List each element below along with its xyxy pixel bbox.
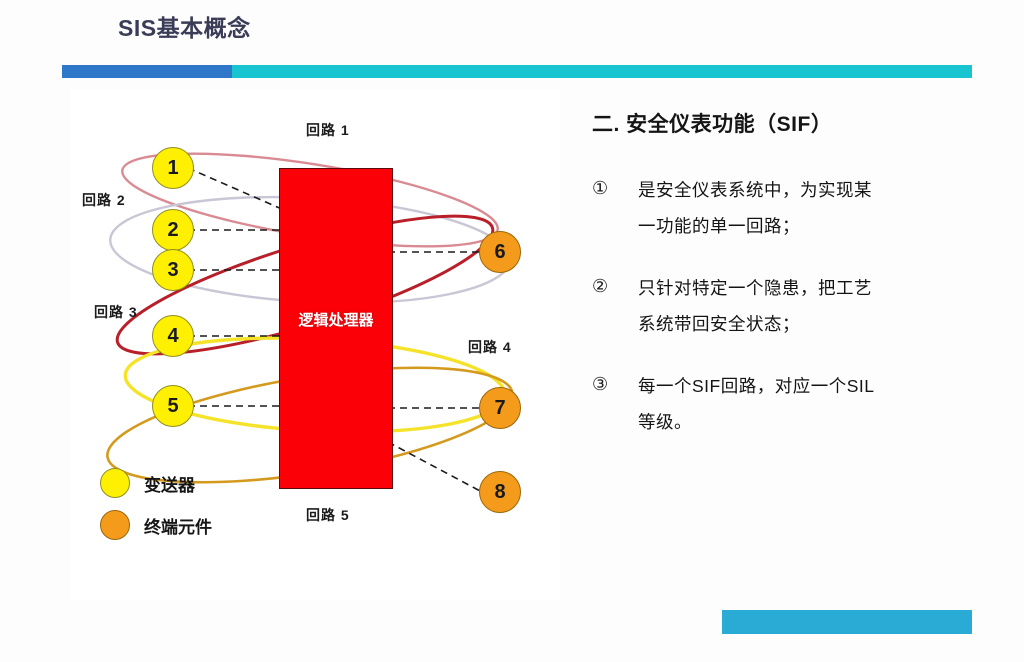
bullet-line: 是安全仪表系统中，为实现某 (638, 172, 872, 208)
legend-item-transmitter: 变送器 (100, 468, 195, 498)
node-6[interactable]: 6 (479, 231, 521, 273)
bullet-body-3: 每一个SIF回路，对应一个SIL 等级。 (638, 368, 875, 440)
bullet-line: 等级。 (638, 404, 875, 440)
bullet-line: 一功能的单一回路； (638, 208, 872, 244)
section-heading: 二. 安全仪表功能（SIF） (592, 108, 982, 138)
page-title: SIS基本概念 (118, 9, 251, 43)
footer-accent-bar (722, 610, 972, 634)
loop-label-1: 回路 1 (306, 120, 350, 140)
bullet-body-2: 只针对特定一个隐患，把工艺 系统带回安全状态； (638, 270, 872, 342)
bullet-item-1: ① 是安全仪表系统中，为实现某 一功能的单一回路； (592, 172, 982, 244)
node-8[interactable]: 8 (479, 471, 521, 513)
connector-1 (188, 168, 284, 210)
header-rule-blue (62, 65, 232, 78)
loop-label-2: 回路 2 (82, 190, 126, 210)
final-element-legend-icon (100, 510, 130, 540)
bullet-marker-2: ② (592, 270, 638, 342)
bullet-line: 系统带回安全状态； (638, 306, 872, 342)
bullet-body-1: 是安全仪表系统中，为实现某 一功能的单一回路； (638, 172, 872, 244)
loop-label-5: 回路 5 (306, 505, 350, 525)
loop-label-3: 回路 3 (94, 302, 138, 322)
logic-processor-box: 逻辑处理器 (279, 168, 393, 489)
node-7[interactable]: 7 (479, 387, 521, 429)
slide: SIS基本概念 逻辑处理器 (0, 0, 1024, 662)
bullet-marker-3: ③ (592, 368, 638, 440)
bullet-line: 只针对特定一个隐患，把工艺 (638, 270, 872, 306)
bullet-item-2: ② 只针对特定一个隐患，把工艺 系统带回安全状态； (592, 270, 982, 342)
bullet-line: 每一个SIF回路，对应一个SIL (638, 368, 875, 404)
legend-item-final-element: 终端元件 (100, 510, 212, 540)
sif-loop-diagram: 逻辑处理器 1 2 3 4 5 6 7 8 回路 1 回路 2 回路 3 回路 … (70, 90, 560, 600)
node-1[interactable]: 1 (152, 147, 194, 189)
legend-label-transmitter: 变送器 (144, 471, 195, 496)
transmitter-legend-icon (100, 468, 130, 498)
bullet-item-3: ③ 每一个SIF回路，对应一个SIL 等级。 (592, 368, 982, 440)
node-2[interactable]: 2 (152, 209, 194, 251)
content-column: 二. 安全仪表功能（SIF） ① 是安全仪表系统中，为实现某 一功能的单一回路；… (592, 108, 982, 466)
logic-processor-label: 逻辑处理器 (280, 309, 392, 330)
node-4[interactable]: 4 (152, 315, 194, 357)
node-3[interactable]: 3 (152, 249, 194, 291)
legend-label-final-element: 终端元件 (144, 513, 212, 538)
header-rule-cyan (232, 65, 972, 78)
bullet-marker-1: ① (592, 172, 638, 244)
connector-8 (388, 442, 482, 492)
loop-label-4: 回路 4 (468, 337, 512, 357)
node-5[interactable]: 5 (152, 385, 194, 427)
